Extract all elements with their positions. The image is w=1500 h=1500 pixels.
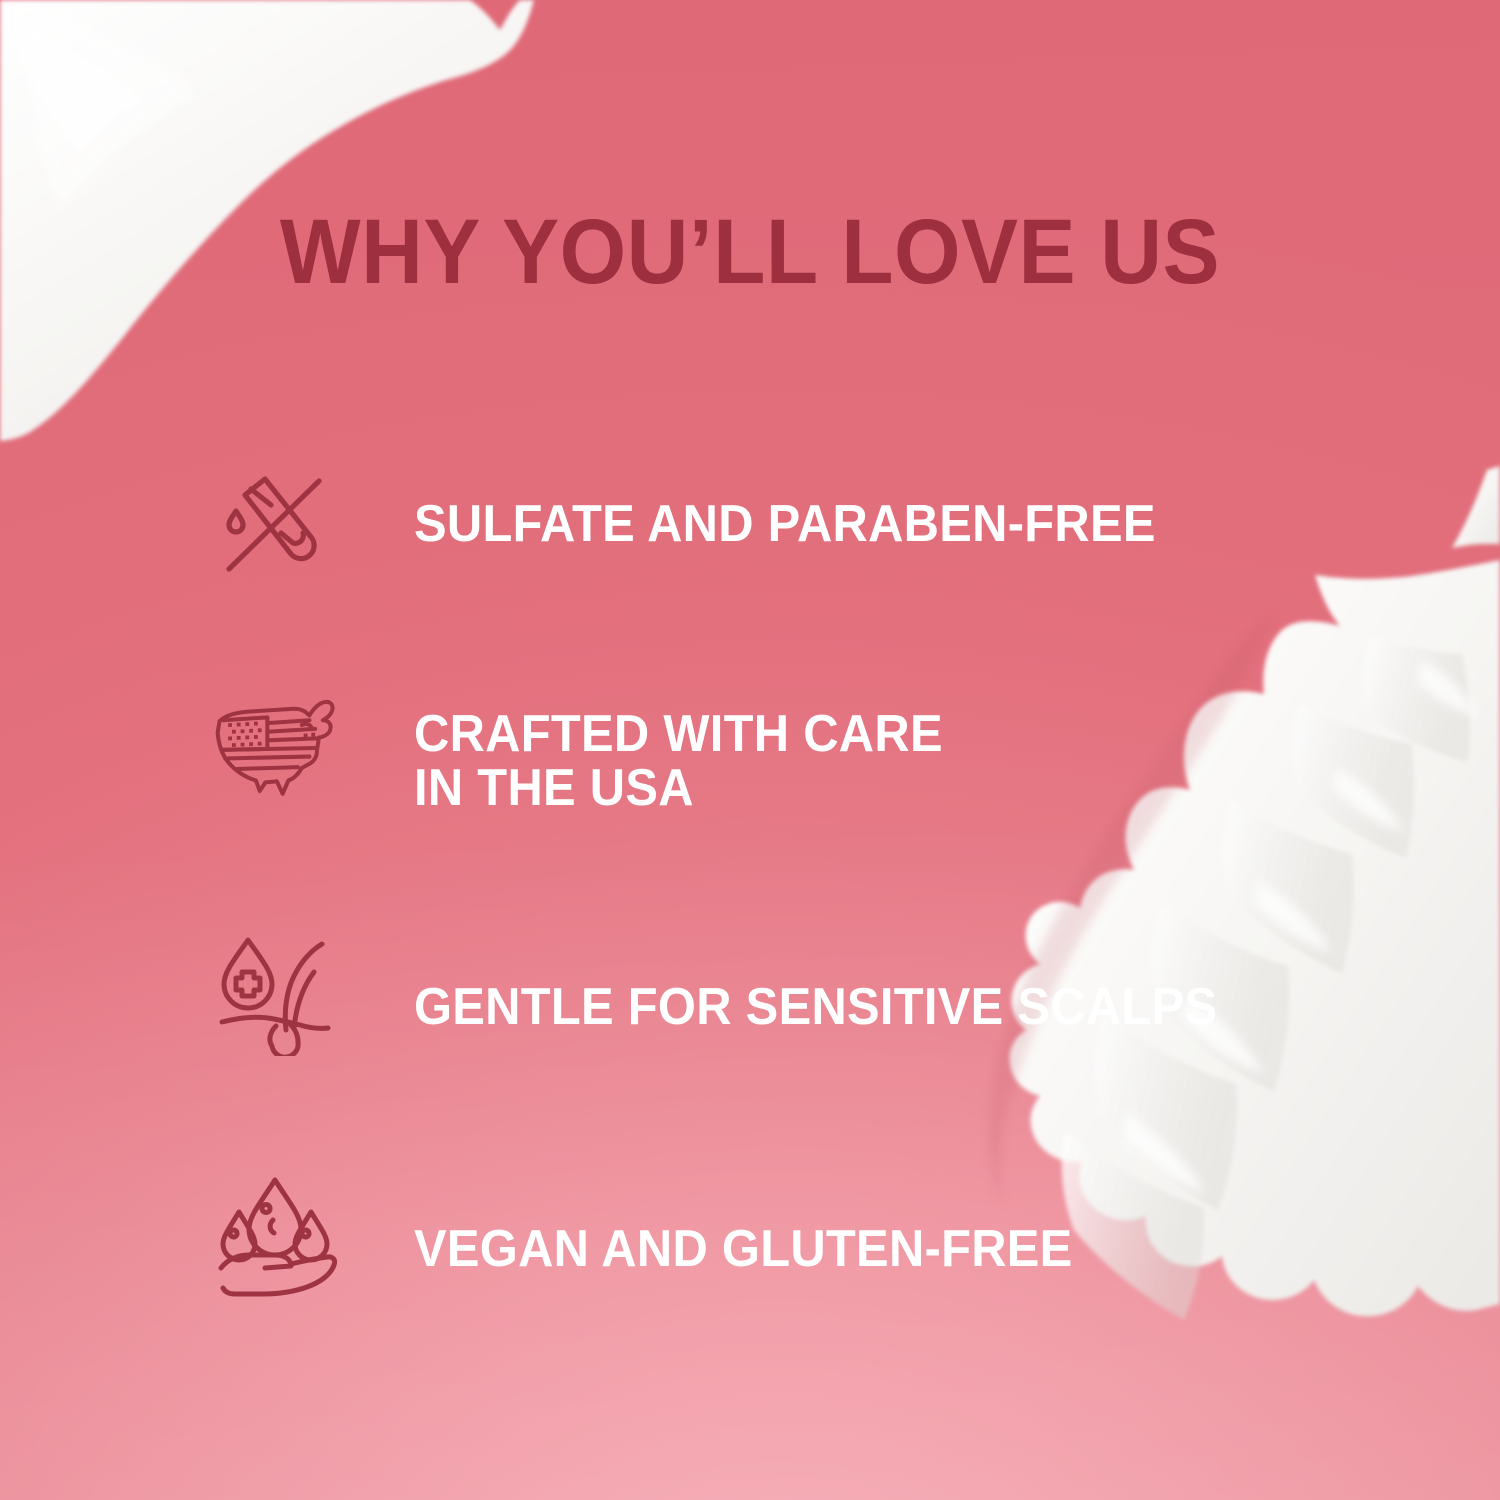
feature-list: SULFATE AND PARABEN-FREE xyxy=(0,0,1500,1500)
feature-label-line2: IN THE USA xyxy=(414,761,943,815)
feature-label: GENTLE FOR SENSITIVE SCALPS xyxy=(414,980,1217,1034)
feature-label-line1: SULFATE AND PARABEN-FREE xyxy=(414,495,1156,553)
feature-label-line1: VEGAN AND GLUTEN-FREE xyxy=(414,1220,1073,1278)
no-test-tube-icon xyxy=(210,460,340,590)
why-you-love-us-poster: WHY YOU’LL LOVE US SULFATE AND PARABEN-F… xyxy=(0,0,1500,1500)
feature-label-line1: GENTLE FOR SENSITIVE SCALPS xyxy=(414,978,1217,1036)
hand-with-droplets-icon xyxy=(210,1172,340,1302)
feature-label: SULFATE AND PARABEN-FREE xyxy=(414,497,1156,551)
feature-label-line1: CRAFTED WITH CARE xyxy=(414,705,943,763)
usa-flag-map-icon xyxy=(210,682,340,812)
feature-label: VEGAN AND GLUTEN-FREE xyxy=(414,1222,1073,1276)
feature-label: CRAFTED WITH CARE IN THE USA xyxy=(414,707,943,815)
scalp-hair-follicle-icon xyxy=(210,930,340,1060)
